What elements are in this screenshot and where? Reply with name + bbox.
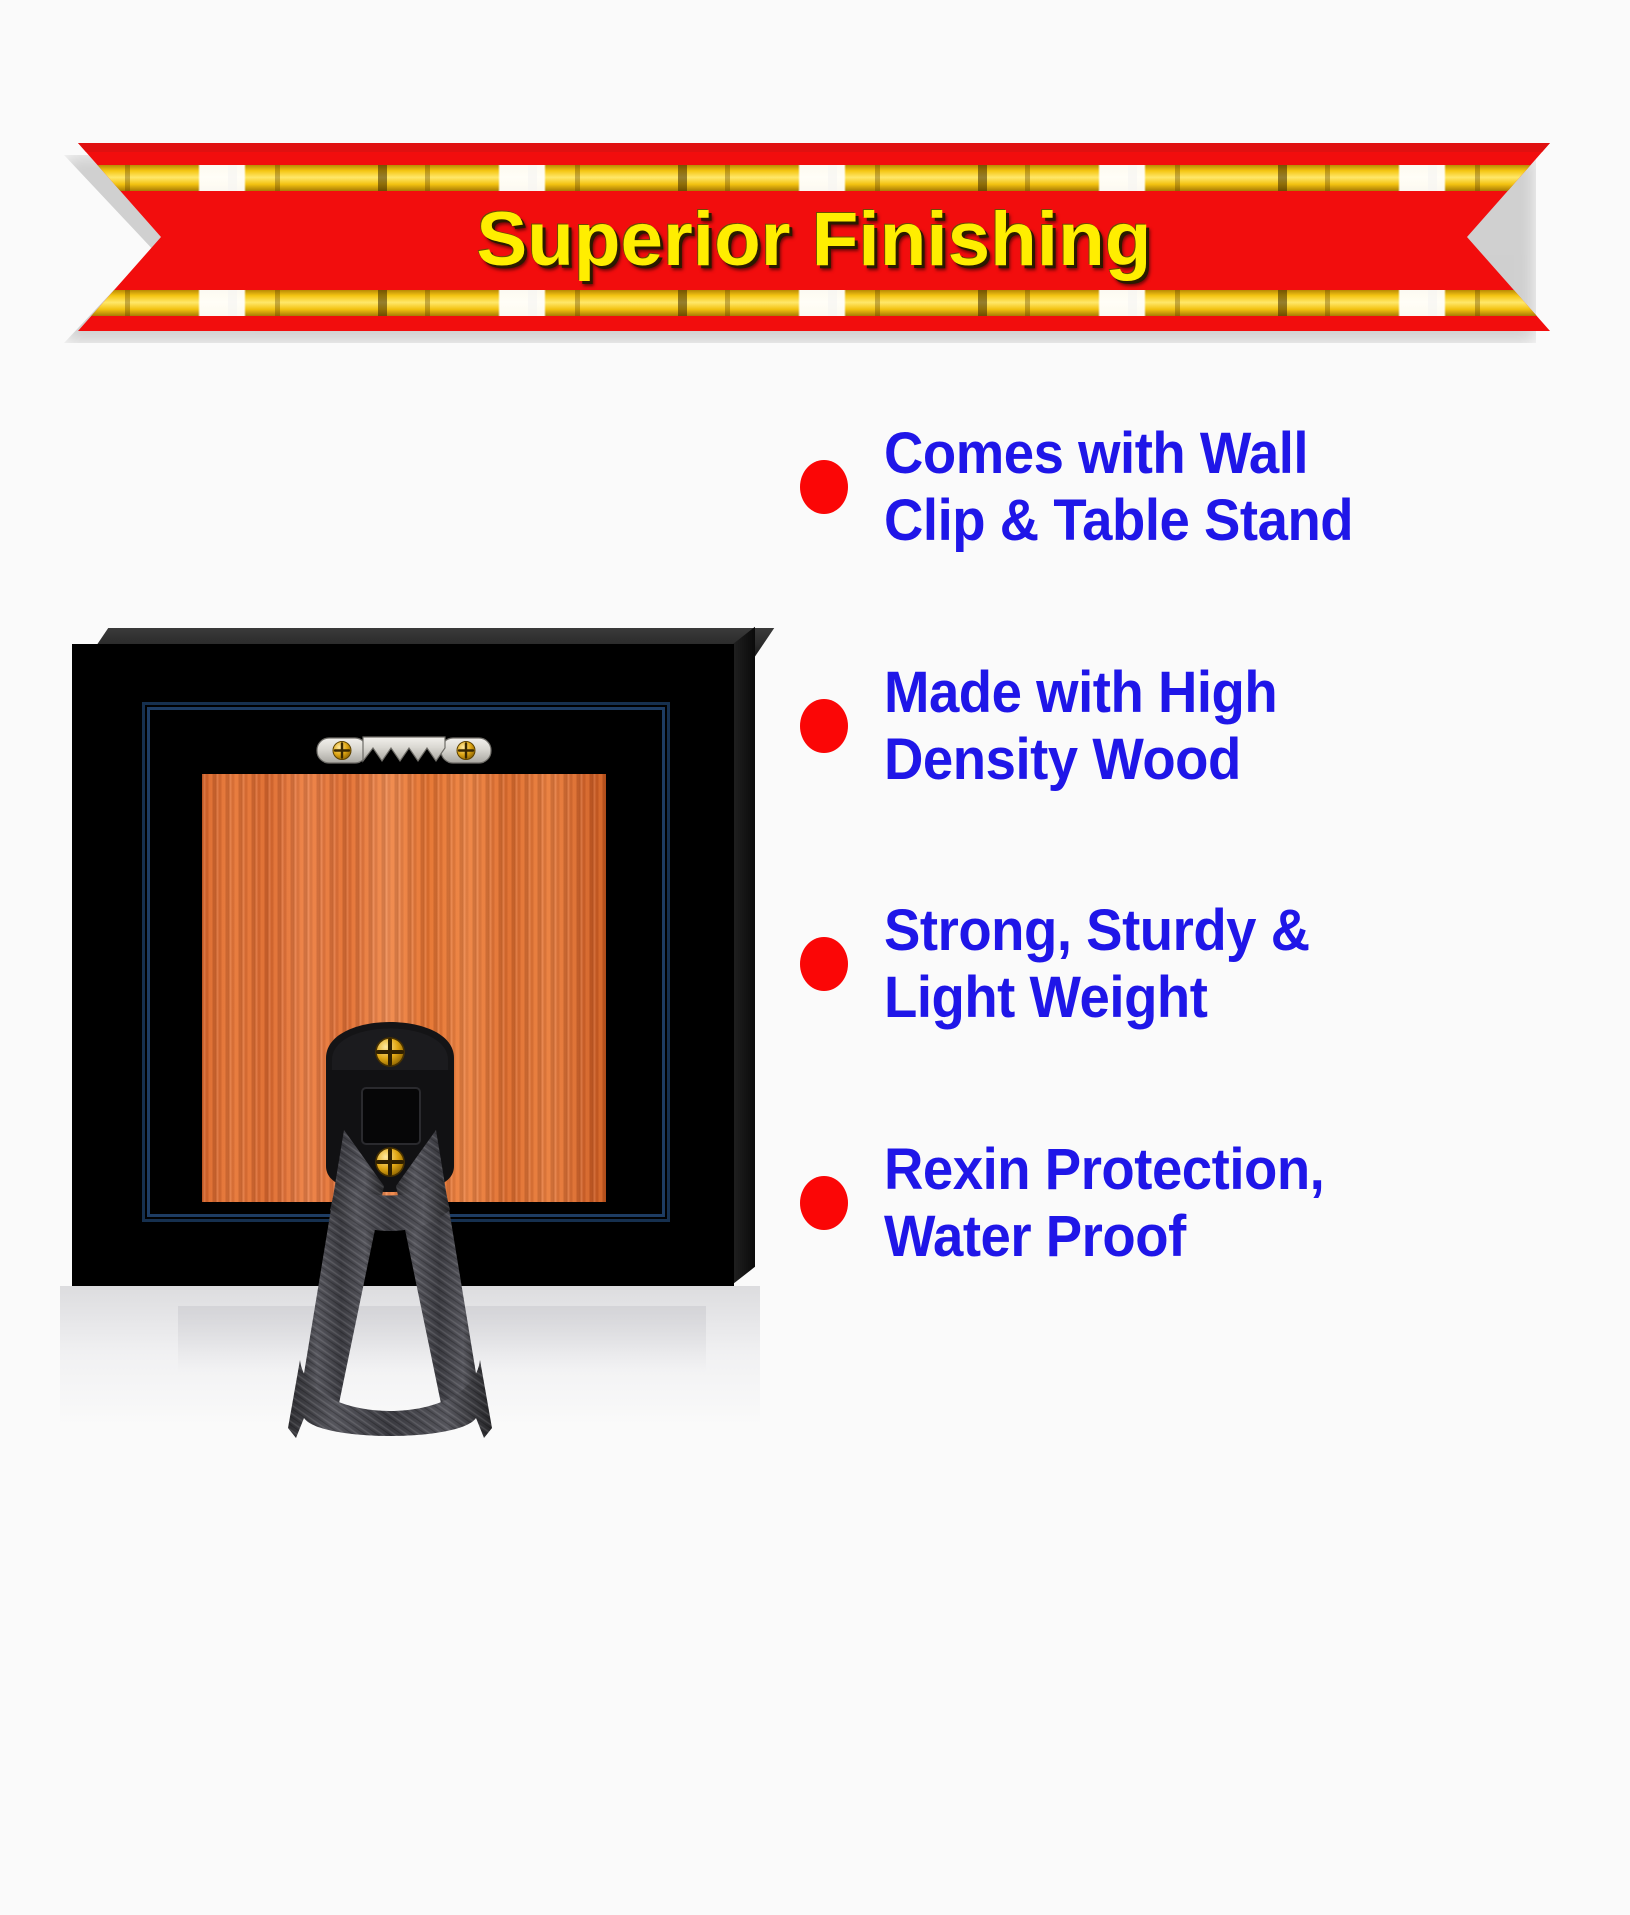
bullet-dot-icon [800,937,848,991]
banner-title: Superior Finishing [78,143,1550,331]
feature-list: Comes with Wall Clip & Table Stand Made … [800,420,1590,1270]
plaque-side-bevel [733,627,755,1284]
feature-text: Made with High Density Wood [884,659,1277,794]
list-item: Made with High Density Wood [800,659,1590,794]
feature-text: Comes with Wall Clip & Table Stand [884,420,1353,555]
bullet-dot-icon [800,699,848,753]
list-item: Comes with Wall Clip & Table Stand [800,420,1590,555]
product-image [60,600,780,1500]
feature-text: Strong, Sturdy & Light Weight [884,897,1310,1032]
feature-text: Rexin Protection, Water Proof [884,1136,1324,1271]
list-item: Strong, Sturdy & Light Weight [800,897,1590,1032]
header-banner: Superior Finishing [78,143,1550,331]
table-stand-easel-icon [240,980,540,1450]
sawtooth-wall-hanger-icon [315,734,493,766]
bullet-dot-icon [800,1176,848,1230]
list-item: Rexin Protection, Water Proof [800,1136,1590,1271]
bullet-dot-icon [800,460,848,514]
